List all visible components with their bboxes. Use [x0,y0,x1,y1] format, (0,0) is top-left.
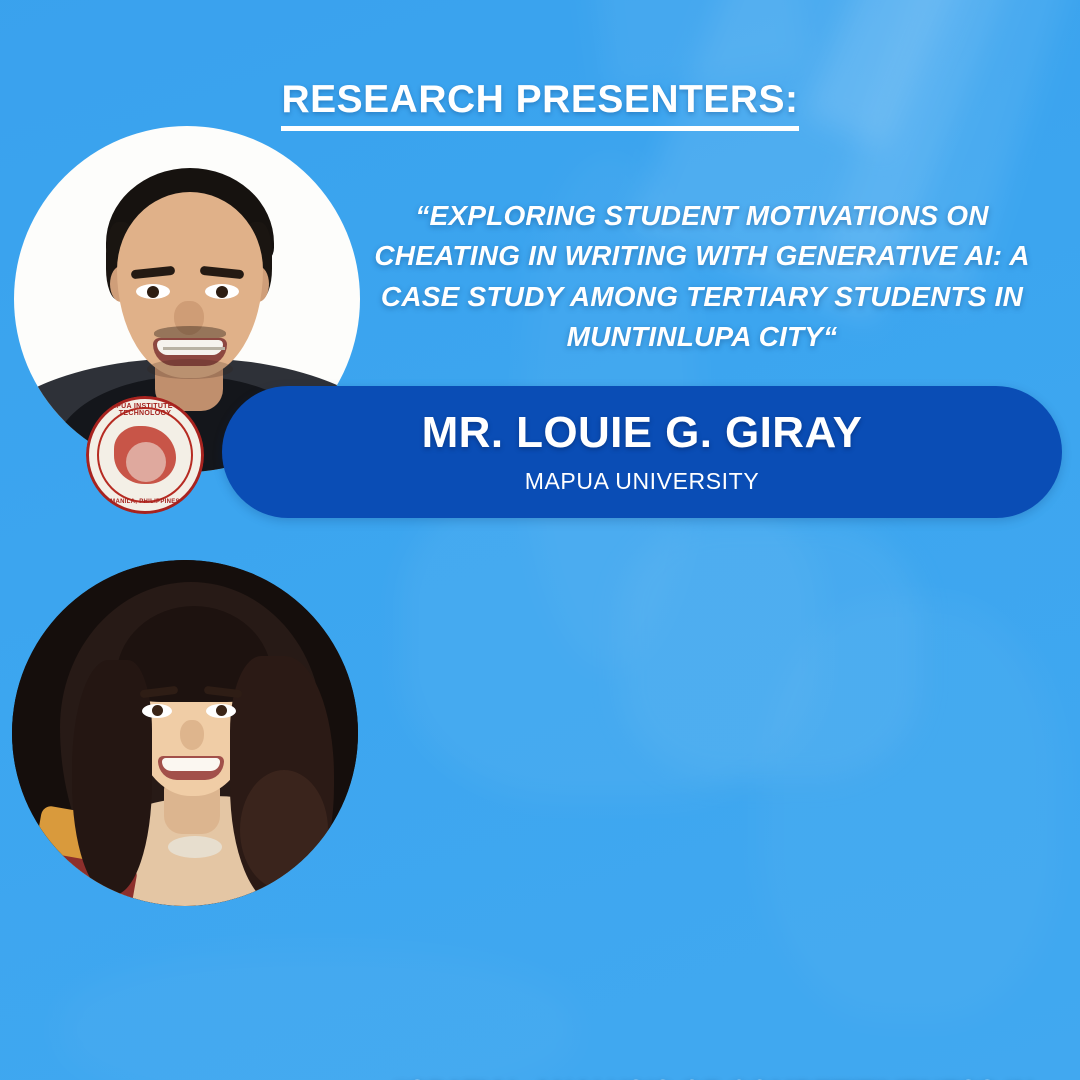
portrait-eye [136,284,170,299]
portrait-teeth [162,758,220,771]
portrait-mouth [158,756,224,780]
portrait-eye [206,704,236,718]
presenter-affiliation: MAPUA UNIVERSITY [525,468,760,495]
portrait-hair-curl [240,770,328,890]
portrait-eye [205,284,239,299]
presenter-name-banner: MR. LOUIE G. GIRAY MAPUA UNIVERSITY [222,386,1062,518]
portrait-eye [142,704,172,718]
seal-top-text: MAPUA INSTITUTE OF TECHNOLOGY [86,403,204,417]
mapua-seal-icon: MAPUA INSTITUTE OF TECHNOLOGY MANILA, PH… [86,396,204,514]
study-title: “EXPLORING STUDENT MOTIVATIONS ON CHEATI… [358,196,1046,357]
seal-bottom-text: MANILA, PHILIPPINES [86,499,204,505]
portrait-chin-shadow [147,359,233,379]
portrait-teeth [157,340,223,355]
seal-crest-highlight [126,442,166,482]
portrait-nose [180,720,204,750]
page-title: RESEARCH PRESENTERS: [0,78,1080,131]
presenter-name: MR. LOUIE G. GIRAY [422,409,863,457]
study-title: “SPATIAL ANALYSIS OF COMPETITIVENESS IN … [368,1070,1056,1080]
portrait-braces [163,347,225,350]
portrait-necklace [168,836,222,858]
avatar [12,560,358,906]
page-title-text: RESEARCH PRESENTERS: [281,78,798,131]
research-presenters-poster: RESEARCH PRESENTERS: [0,0,1080,1080]
